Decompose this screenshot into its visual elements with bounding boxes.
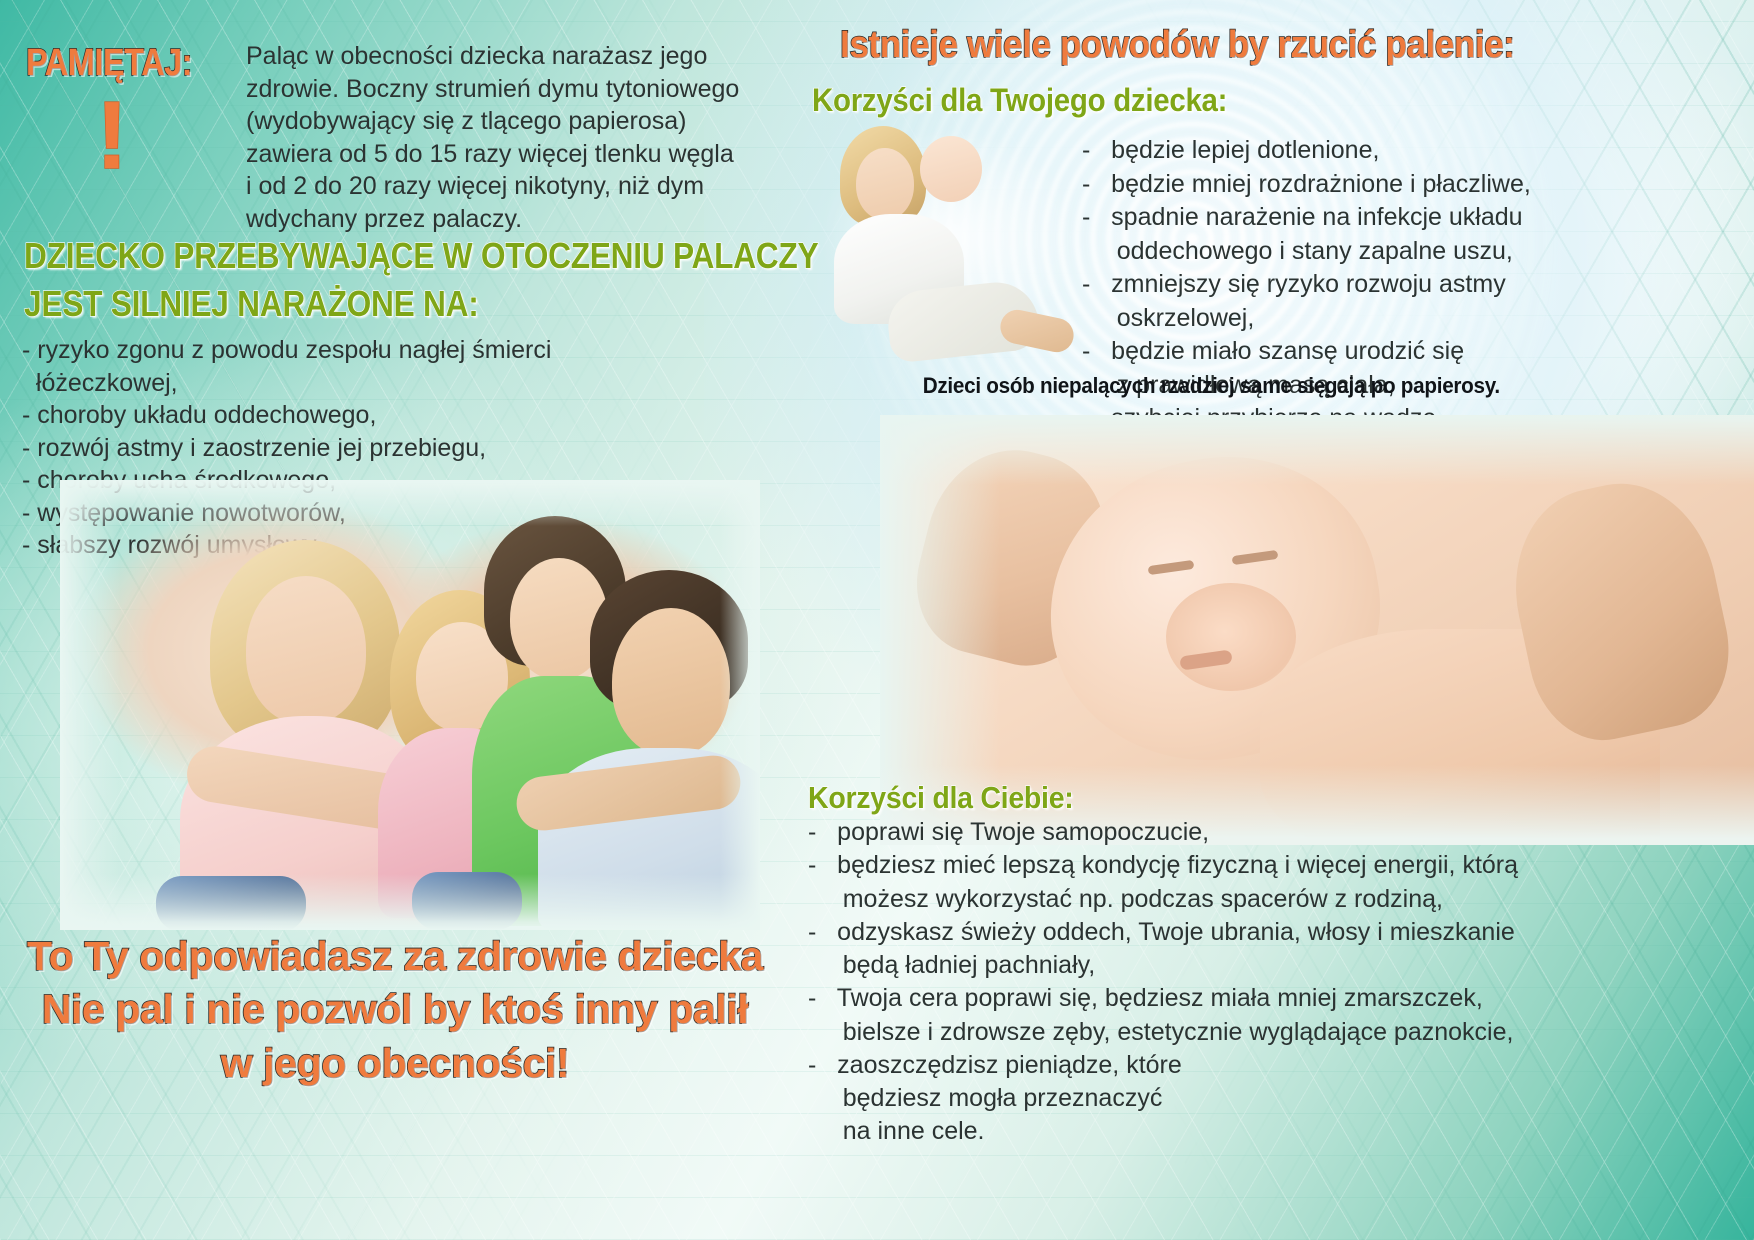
remember-label: PAMIĘTAJ:	[26, 42, 192, 85]
risk-list-item: - ryzyko zgonu z powodu zespołu nagłej ś…	[22, 334, 662, 367]
intro-line: zawiera od 5 do 15 razy więcej tlenku wę…	[246, 138, 776, 171]
exclamation-mark-icon: !	[96, 88, 128, 184]
child-benefit-item: - będzie lepiej dotlenione,	[1082, 134, 1742, 168]
photo-fade-bottom	[60, 874, 760, 930]
baby-head	[920, 136, 982, 202]
your-benefit-item: - zaoszczędzisz pieniądze, które	[808, 1049, 1748, 1082]
risk-list-item: - rozwój astmy i zaostrzenie jej przebie…	[22, 432, 662, 465]
intro-line: wdychany przez palaczy.	[246, 203, 776, 236]
intro-line: Paląc w obecności dziecka narażasz jego	[246, 40, 776, 73]
child-benefit-item: - zmniejszy się ryzyko rozwoju astmy	[1082, 268, 1742, 302]
risk-list-item: łóżeczkowej,	[22, 367, 662, 400]
poster-canvas: PAMIĘTAJ: ! Paląc w obecności dziecka na…	[0, 0, 1754, 1240]
child-benefit-item: oskrzelowej,	[1082, 302, 1742, 336]
final-appeal-line: w jego obecności!	[0, 1037, 790, 1090]
child-benefit-item: - będzie mniej rozdrażnione i płaczliwe,	[1082, 168, 1742, 202]
your-benefits-list: - poprawi się Twoje samopoczucie, - będz…	[808, 816, 1748, 1149]
reasons-to-quit-heading: Istnieje wiele powodów by rzucić palenie…	[840, 24, 1515, 67]
your-benefit-item: bielsze i zdrowsze zęby, estetycznie wyg…	[808, 1016, 1748, 1049]
final-appeal-line: To Ty odpowiadasz za zdrowie dziecka	[0, 930, 790, 983]
exposed-child-heading: DZIECKO PRZEBYWAJĄCE W OTOCZENIU PALACZY…	[24, 232, 719, 328]
mother-and-baby-photo	[800, 118, 1100, 383]
your-benefit-item: - będziesz mieć lepszą kondycję fizyczną…	[808, 849, 1748, 882]
child-benefits-heading: Korzyści dla Twojego dziecka:	[812, 82, 1227, 119]
risk-list-item: - choroby układu oddechowego,	[22, 399, 662, 432]
your-benefits-heading: Korzyści dla Ciebie:	[808, 780, 1074, 816]
photo-fade-top	[60, 480, 760, 526]
child-benefit-item: - będzie miało szansę urodzić się	[1082, 335, 1742, 369]
baby-cheek	[1166, 583, 1296, 691]
your-benefit-item: możesz wykorzystać np. podczas spacerów …	[808, 883, 1748, 916]
father-face	[612, 608, 730, 756]
final-appeal-line: Nie pal i nie pozwól by ktoś inny palił	[0, 983, 790, 1036]
heading-line: DZIECKO PRZEBYWAJĄCE W OTOCZENIU PALACZY	[24, 232, 719, 280]
your-benefit-item: na inne cele.	[808, 1115, 1748, 1148]
child-benefit-item: - spadnie narażenie na infekcje układu	[1082, 201, 1742, 235]
your-benefit-item: będziesz mogła przeznaczyć	[808, 1082, 1748, 1115]
your-benefit-item: będą ładniej pachniały,	[808, 949, 1748, 982]
final-appeal: To Ty odpowiadasz za zdrowie dziecka Nie…	[0, 930, 790, 1090]
your-benefit-item: - odzyskasz świeży oddech, Twoje ubrania…	[808, 916, 1748, 949]
photo-fade-right	[720, 480, 760, 930]
intro-paragraph: Paląc w obecności dziecka narażasz jego …	[246, 40, 776, 235]
family-photo	[60, 480, 760, 930]
photo-fade-top	[880, 415, 1754, 485]
mother-face	[246, 576, 366, 724]
mother-face	[856, 148, 914, 220]
intro-line: zdrowie. Boczny strumień dymu tytonioweg…	[246, 73, 776, 106]
child-benefit-item: oddechowego i stany zapalne uszu,	[1082, 235, 1742, 269]
photo-fade-left	[60, 480, 120, 930]
your-benefit-item: - Twoja cera poprawi się, będziesz miała…	[808, 982, 1748, 1015]
intro-line: (wydobywający się z tlącego papierosa)	[246, 105, 776, 138]
your-benefit-item: - poprawi się Twoje samopoczucie,	[808, 816, 1748, 849]
kids-of-nonsmokers-note: Dzieci osób niepalących rzadziej same si…	[840, 373, 1583, 399]
heading-line: JEST SILNIEJ NARAŻONE NA:	[24, 280, 719, 328]
intro-line: i od 2 do 20 razy więcej nikotyny, niż d…	[246, 170, 776, 203]
